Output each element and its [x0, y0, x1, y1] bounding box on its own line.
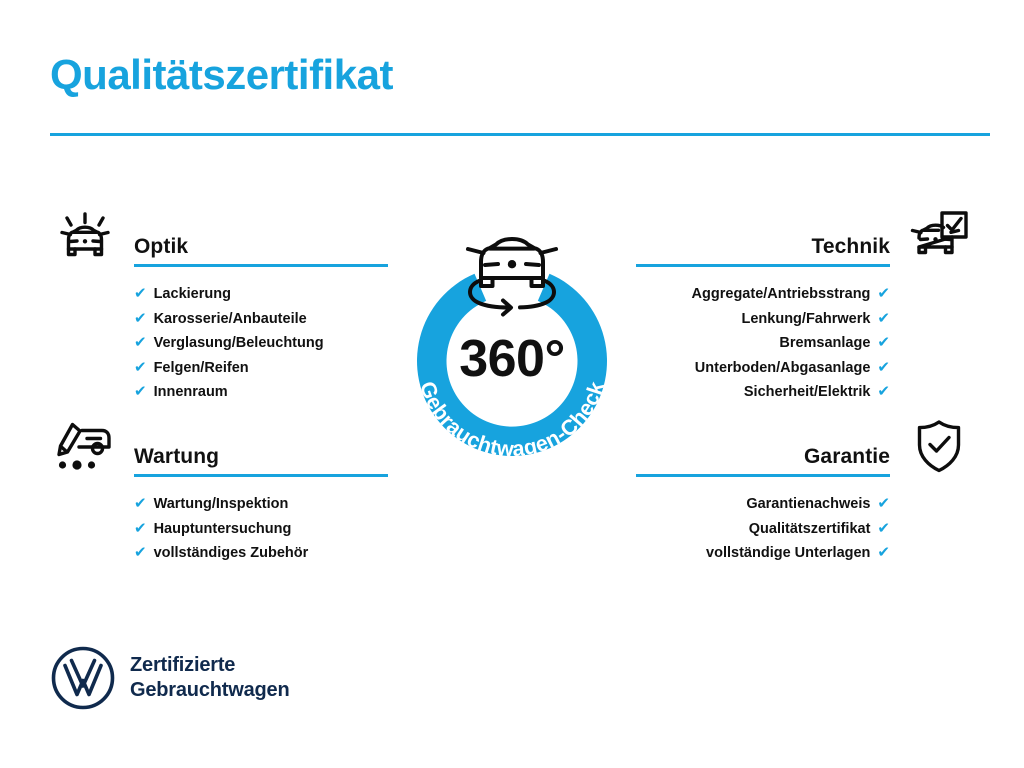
section-technik-list: Aggregate/Antriebsstrang✔ Lenkung/Fahrwe…: [636, 282, 976, 405]
check-icon: ✔: [877, 307, 890, 331]
section-optik-title-wrap: Optik: [134, 236, 388, 267]
list-item: ✔Hauptuntersuchung: [134, 517, 388, 542]
list-item-label: Garantienachweis: [746, 493, 870, 517]
section-optik-title: Optik: [134, 236, 388, 264]
list-item: Garantienachweis✔: [636, 492, 890, 517]
list-item-label: Verglasung/Beleuchtung: [154, 332, 324, 356]
list-item-label: Bremsanlage: [779, 332, 870, 356]
section-optik-header: Optik: [48, 205, 388, 267]
section-optik-list: ✔Lackierung ✔Karosserie/Anbauteile ✔Verg…: [48, 282, 388, 405]
header-divider: [50, 133, 990, 136]
vw-wordmark-line1: Zertifizierte: [130, 653, 289, 678]
check-icon: ✔: [134, 282, 147, 306]
section-wartung-list: ✔Wartung/Inspektion ✔Hauptuntersuchung ✔…: [48, 492, 388, 566]
list-item: vollständige Unterlagen✔: [636, 541, 890, 566]
section-technik-title-wrap: Technik: [636, 236, 890, 267]
section-technik-title: Technik: [636, 236, 890, 264]
list-item-label: Innenraum: [154, 381, 228, 405]
page-title: Qualitätszertifikat: [50, 52, 393, 98]
vw-logo-icon: [50, 645, 116, 711]
list-item: Aggregate/Antriebsstrang✔: [636, 282, 890, 307]
list-item: ✔Karosserie/Anbauteile: [134, 307, 388, 332]
list-item-label: Qualitätszertifikat: [749, 518, 871, 542]
list-item-label: Lenkung/Fahrwerk: [742, 308, 871, 332]
car-checkbox-icon: [902, 205, 976, 267]
check-icon: ✔: [877, 282, 890, 306]
list-item-label: vollständiges Zubehör: [154, 542, 309, 566]
check-icon: ✔: [877, 356, 890, 380]
pencil-car-service-icon: [48, 415, 122, 477]
check-icon: ✔: [134, 307, 147, 331]
section-garantie-header: Garantie: [636, 415, 976, 477]
check-icon: ✔: [134, 541, 147, 565]
list-item-label: Wartung/Inspektion: [154, 493, 289, 517]
check-icon: ✔: [134, 331, 147, 355]
list-item: Bremsanlage✔: [636, 331, 890, 356]
check-icon: ✔: [877, 517, 890, 541]
list-item: ✔Lackierung: [134, 282, 388, 307]
list-item: Lenkung/Fahrwerk✔: [636, 307, 890, 332]
list-item: ✔Felgen/Reifen: [134, 356, 388, 381]
list-item-label: Aggregate/Antriebsstrang: [692, 283, 871, 307]
check-icon: ✔: [134, 380, 147, 404]
list-item-label: Sicherheit/Elektrik: [744, 381, 871, 405]
list-item-label: Karosserie/Anbauteile: [154, 308, 307, 332]
check-icon: ✔: [877, 541, 890, 565]
list-item: ✔Wartung/Inspektion: [134, 492, 388, 517]
section-wartung-title-wrap: Wartung: [134, 446, 388, 477]
badge-center-label: 360°: [459, 330, 565, 388]
vw-certified-logo: Zertifizierte Gebrauchtwagen: [50, 645, 289, 711]
list-item-label: Hauptuntersuchung: [154, 518, 292, 542]
section-wartung-title: Wartung: [134, 446, 388, 474]
section-optik-divider: [134, 264, 388, 267]
section-technik-divider: [636, 264, 890, 267]
list-item-label: vollständige Unterlagen: [706, 542, 870, 566]
section-wartung-header: Wartung: [48, 415, 388, 477]
list-item: Sicherheit/Elektrik✔: [636, 380, 890, 405]
list-item: ✔Innenraum: [134, 380, 388, 405]
section-technik: Technik Aggregate/Antriebsstrang✔ Lenkun…: [636, 205, 976, 405]
section-optik: Optik ✔Lackierung ✔Karosserie/Anbauteile…: [48, 205, 388, 405]
check-icon: ✔: [877, 492, 890, 516]
list-item: ✔Verglasung/Beleuchtung: [134, 331, 388, 356]
check-icon: ✔: [134, 517, 147, 541]
list-item: Unterboden/Abgasanlage✔: [636, 356, 890, 381]
check-icon: ✔: [134, 492, 147, 516]
gebrauchtwagen-check-badge: Gebrauchtwagen-Check 360°: [377, 196, 647, 496]
section-garantie-divider: [636, 474, 890, 477]
vw-wordmark: Zertifizierte Gebrauchtwagen: [130, 653, 289, 703]
shield-check-icon: [902, 415, 976, 477]
section-garantie-list: Garantienachweis✔ Qualitätszertifikat✔ v…: [636, 492, 976, 566]
car-shine-icon: [48, 205, 122, 267]
section-garantie: Garantie Garantienachweis✔ Qualitätszert…: [636, 415, 976, 566]
section-garantie-title: Garantie: [636, 446, 890, 474]
section-wartung-divider: [134, 474, 388, 477]
car-rotate-360-icon: [468, 239, 556, 315]
section-wartung: Wartung ✔Wartung/Inspektion ✔Hauptunters…: [48, 415, 388, 566]
check-icon: ✔: [877, 380, 890, 404]
list-item: ✔vollständiges Zubehör: [134, 541, 388, 566]
section-garantie-title-wrap: Garantie: [636, 446, 890, 477]
list-item-label: Lackierung: [154, 283, 231, 307]
check-icon: ✔: [134, 356, 147, 380]
list-item-label: Felgen/Reifen: [154, 357, 249, 381]
list-item: Qualitätszertifikat✔: [636, 517, 890, 542]
check-icon: ✔: [877, 331, 890, 355]
vw-wordmark-line2: Gebrauchtwagen: [130, 678, 289, 703]
list-item-label: Unterboden/Abgasanlage: [695, 357, 871, 381]
section-technik-header: Technik: [636, 205, 976, 267]
